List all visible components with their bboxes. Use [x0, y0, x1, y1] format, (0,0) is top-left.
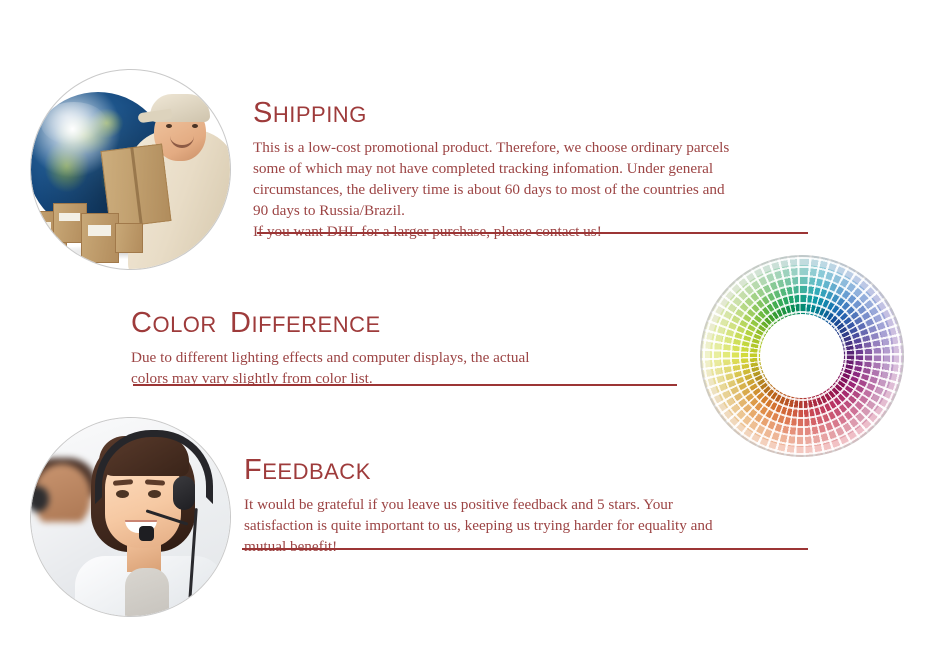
feedback-divider: [242, 548, 808, 550]
parcel-label: [88, 225, 112, 236]
color-difference-section: COLOR DIFFERENCE Due to different lighti…: [131, 309, 691, 389]
agent-top: [125, 568, 169, 616]
color-difference-divider: [133, 384, 677, 386]
support-agent: [83, 428, 215, 616]
color-wheel: [700, 255, 904, 457]
parcel-box: [115, 223, 143, 253]
shipping-photo-inner: [31, 70, 230, 269]
feedback-photo: [31, 418, 230, 616]
shipping-divider: [257, 232, 808, 234]
shipping-section: SHIPPING This is a low-cost promotional …: [253, 99, 813, 242]
parcel-box: [41, 241, 67, 263]
difference-heading-initial: D: [230, 307, 251, 339]
shipping-heading: SHIPPING: [253, 99, 813, 128]
color-difference-body-text: Due to different lighting effects and co…: [131, 347, 691, 389]
feedback-heading-rest: EEDBACK: [262, 459, 371, 484]
feedback-heading: FEEDBACK: [244, 456, 814, 485]
feedback-section: FEEDBACK It would be grateful if you lea…: [244, 456, 814, 557]
shipping-body-text: This is a low-cost promotional product. …: [253, 137, 813, 242]
promo-banner: SHIPPING This is a low-cost promotional …: [0, 0, 930, 669]
color-heading-rest: OLOR: [152, 312, 230, 337]
parcel-label: [32, 222, 51, 232]
feedback-photo-inner: [31, 418, 230, 616]
courier-eye-right: [192, 124, 198, 128]
color-wheel-border: [700, 255, 904, 457]
globe-highlight: [41, 102, 106, 145]
color-heading-initial: C: [131, 307, 152, 339]
parcel-label: [59, 213, 80, 222]
color-difference-heading: COLOR DIFFERENCE: [131, 309, 691, 338]
headset-microphone-icon: [139, 526, 154, 541]
headset-earcup-icon: [173, 476, 195, 510]
parcel-box: [81, 213, 119, 263]
courier-cap: [150, 94, 210, 122]
courier-eye-left: [166, 124, 172, 128]
difference-heading-rest: IFFERENCE: [251, 312, 380, 337]
parcel-stack: [31, 187, 143, 263]
shipping-heading-initial: S: [253, 97, 273, 129]
shipping-photo: [31, 70, 230, 269]
shipping-heading-rest: HIPPING: [273, 102, 367, 127]
feedback-heading-initial: F: [244, 454, 262, 486]
